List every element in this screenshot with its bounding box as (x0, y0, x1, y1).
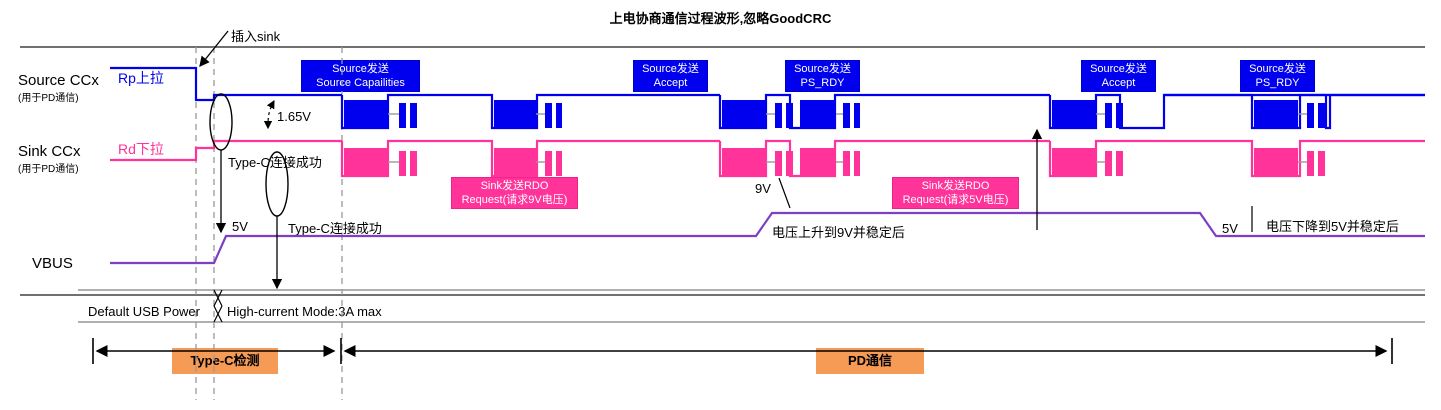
waveform-svg (0, 0, 1441, 410)
waveform-vbus (110, 213, 1425, 263)
time-marker-dashes (196, 47, 342, 400)
leader-9v (779, 178, 790, 208)
waveform-source-ccx (110, 68, 1425, 128)
callout-ellipse-vbus-5v (266, 152, 288, 216)
timing-diagram-canvas: 上电协商通信过程波形,忽略GoodCRC Source CCx (用于PD通信)… (0, 0, 1441, 410)
phase-span-pd (341, 338, 1392, 364)
waveform-sink-ccx (110, 141, 1425, 176)
measure-1v65-arrow (268, 101, 274, 128)
